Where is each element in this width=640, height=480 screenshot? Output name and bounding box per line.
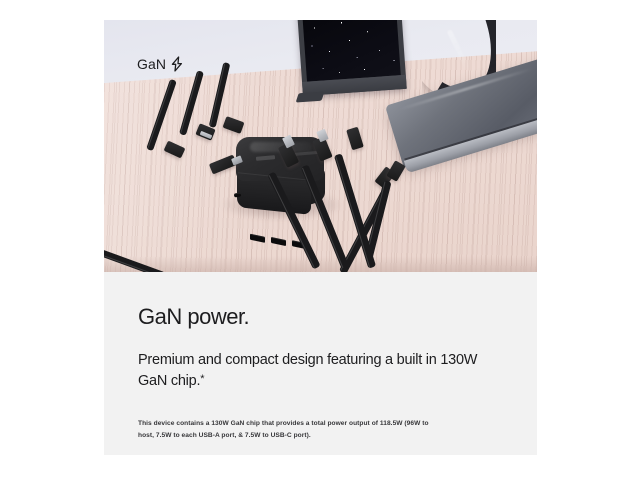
- screenshot-canvas: GaN GaN power. Premium and compact desig…: [0, 0, 640, 480]
- feature-subheadline-text: Premium and compact design featuring a b…: [138, 352, 477, 389]
- gan-badge: GaN: [137, 56, 184, 72]
- monitor-screen-starfield: [302, 20, 401, 82]
- footnote-marker: *: [200, 373, 204, 385]
- legal-footnote: This device contains a 130W GaN chip tha…: [138, 418, 438, 441]
- product-feature-card: GaN GaN power. Premium and compact desig…: [104, 20, 537, 455]
- desk-edge-shadow: [104, 256, 537, 272]
- page-title: GaN power.: [138, 305, 503, 329]
- desk-monitor: [297, 20, 407, 96]
- dock-brand-mark: [256, 155, 275, 161]
- feature-subheadline: Premium and compact design featuring a b…: [138, 350, 503, 391]
- gan-badge-label: GaN: [137, 56, 166, 72]
- lightning-bolt-icon: [171, 56, 184, 72]
- hero-product-photo: GaN: [104, 20, 537, 272]
- feature-text-panel: GaN power. Premium and compact design fe…: [104, 272, 537, 455]
